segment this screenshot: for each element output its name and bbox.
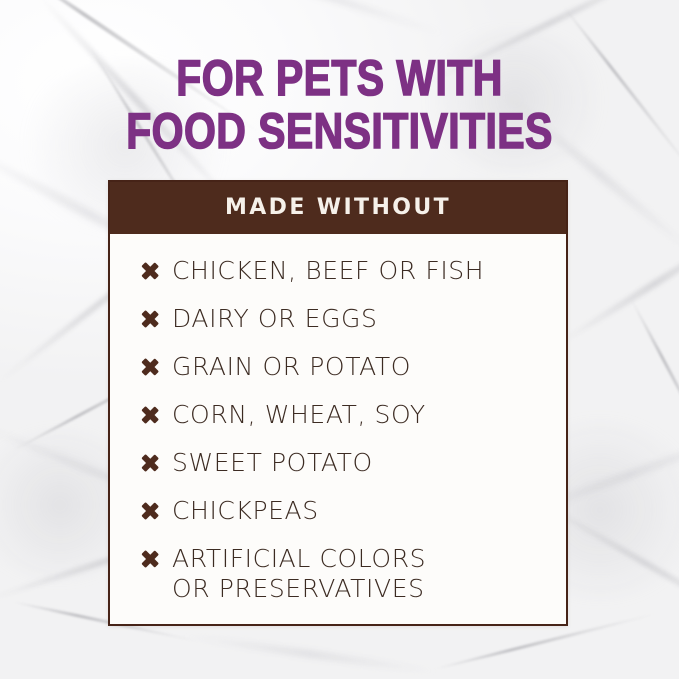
x-mark-icon (140, 261, 159, 280)
list-item: GRAIN OR POTATO (110, 352, 566, 382)
x-mark-icon (140, 501, 159, 520)
list-item: CHICKPEAS (110, 496, 566, 526)
x-mark-icon (140, 357, 159, 376)
list-item: CHICKEN, BEEF OR FISH (110, 256, 566, 286)
x-mark-icon (140, 405, 159, 424)
list-item-label: GRAIN OR POTATO (172, 352, 411, 382)
list-item: ARTIFICIAL COLORS OR PRESERVATIVES (110, 544, 566, 604)
page-title: FOR PETS WITH FOOD SENSITIVITIES (61, 52, 618, 158)
list-item-label: ARTIFICIAL COLORS OR PRESERVATIVES (172, 544, 426, 604)
list-item-label: CHICKEN, BEEF OR FISH (172, 256, 484, 286)
list-item: CORN, WHEAT, SOY (110, 400, 566, 430)
list-item-label: SWEET POTATO (172, 448, 373, 478)
list-item-label: DAIRY OR EGGS (172, 304, 377, 334)
made-without-card: MADE WITHOUT CHICKEN, BEEF OR FISH DAIRY… (108, 180, 568, 626)
x-mark-icon (140, 309, 159, 328)
page-title-line-1: FOR PETS WITH (61, 52, 618, 105)
product-claims-poster: FOR PETS WITH FOOD SENSITIVITIES MADE WI… (0, 0, 679, 679)
list-item: SWEET POTATO (110, 448, 566, 478)
list-item-label: CORN, WHEAT, SOY (172, 400, 426, 430)
page-title-line-2: FOOD SENSITIVITIES (61, 105, 618, 158)
list-item-label: CHICKPEAS (172, 496, 319, 526)
x-mark-icon (140, 549, 159, 568)
list-item: DAIRY OR EGGS (110, 304, 566, 334)
x-mark-icon (140, 453, 159, 472)
card-body: CHICKEN, BEEF OR FISH DAIRY OR EGGS GRAI… (110, 234, 566, 604)
card-header: MADE WITHOUT (110, 182, 566, 234)
card-header-title: MADE WITHOUT (225, 197, 451, 219)
excluded-ingredients-list: CHICKEN, BEEF OR FISH DAIRY OR EGGS GRAI… (110, 256, 566, 604)
